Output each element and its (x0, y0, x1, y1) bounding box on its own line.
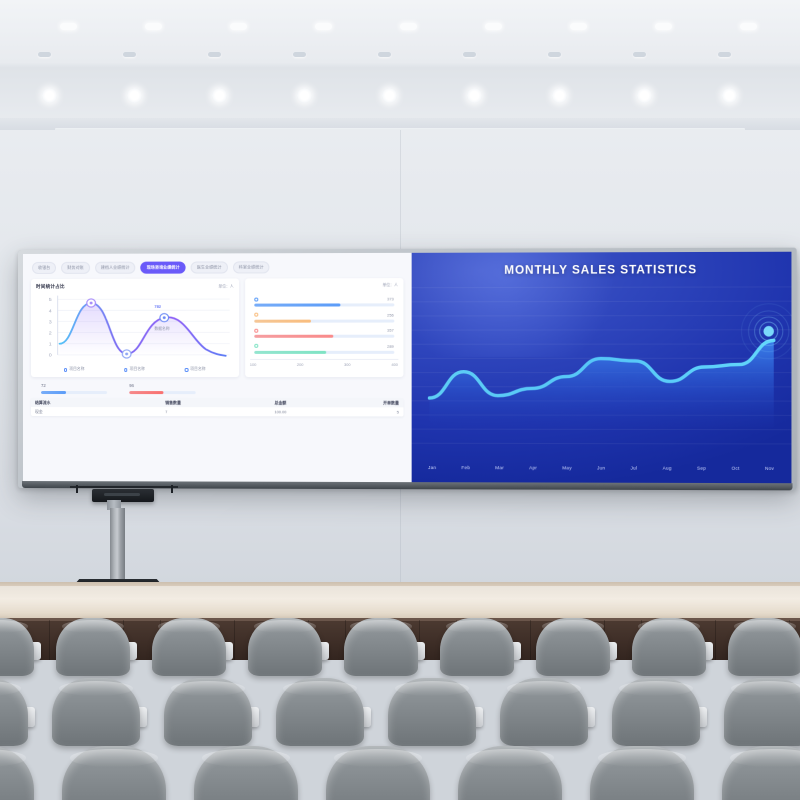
axis-tick-3: 400 (391, 363, 397, 367)
slot-light (570, 23, 587, 30)
seat-highlight (0, 620, 28, 633)
sales-chart-title: MONTHLY SALES STATISTICS (411, 264, 791, 277)
slot-light (633, 52, 646, 57)
sales-area-chart[interactable] (411, 282, 791, 455)
down-light (382, 88, 397, 103)
seat-highlight (598, 749, 685, 767)
mount-column (110, 508, 125, 584)
svg-text:1: 1 (49, 342, 52, 348)
slot-light (145, 23, 162, 30)
mini-fill (129, 391, 164, 395)
table-header-cell-0: 结算流水 (35, 400, 165, 406)
slot-light (38, 52, 51, 57)
bar-value: 256 (387, 312, 394, 317)
tab-1[interactable]: 财务对账 (61, 262, 89, 275)
bar-track (254, 350, 394, 353)
legend-label: 项目名称 (130, 367, 145, 372)
auditorium-seat (194, 746, 298, 800)
auditorium-seat (152, 618, 226, 676)
mini-track (41, 391, 107, 395)
svg-text:2: 2 (49, 331, 52, 337)
point-name-label: 数据名称 (154, 327, 169, 332)
auditorium-seat (326, 746, 430, 800)
bar-row-header: 357 (254, 328, 394, 333)
svg-text:3: 3 (49, 320, 52, 326)
slot-light (463, 52, 476, 57)
auditorium-seat (440, 618, 514, 676)
bar-row-header: 256 (254, 312, 394, 317)
summary-table[interactable]: 结算流水销售数量总金额开单数量 现金7100.005 (31, 398, 403, 416)
auditorium-seat (536, 618, 610, 676)
ceiling (0, 0, 800, 130)
dashboard-card-row: 时间统计占比 单位：人 (23, 274, 411, 378)
table-row[interactable]: 现金7100.005 (31, 407, 403, 416)
card-title: 时间统计占比 (36, 284, 65, 290)
seat-highlight (466, 749, 553, 767)
time-ratio-card[interactable]: 时间统计占比 单位：人 (31, 279, 239, 378)
bar-value: 289 (387, 344, 394, 349)
down-light (467, 88, 482, 103)
bar-row-0[interactable]: 373 (254, 297, 394, 307)
card-unit: 单位：人 (218, 285, 233, 290)
seat-highlight (507, 681, 581, 696)
table-header-cell-1: 销售数量 (165, 400, 274, 406)
auditorium-seat (728, 618, 800, 676)
down-light (297, 88, 312, 103)
seat-highlight (62, 620, 124, 633)
slot-light (485, 23, 502, 30)
mount-rail-right (171, 485, 173, 493)
mount-rail-left (76, 485, 78, 493)
seat-highlight (730, 749, 800, 767)
month-label-6: Jul (631, 465, 638, 470)
bar-axis: 100200300400 (250, 359, 398, 366)
mount-crossbar (92, 489, 154, 502)
axis-tick-1: 200 (297, 363, 303, 367)
line-chart-svg: 543210 (36, 292, 234, 366)
month-label-9: Oct (732, 466, 740, 471)
card-unit: 单位：人 (382, 284, 397, 289)
auditorium-seat (612, 678, 700, 746)
down-light (127, 88, 142, 103)
auditorium-seat (722, 746, 800, 800)
auditorium-seat (388, 678, 476, 746)
bar-fill (254, 350, 327, 353)
month-label-0: Jan (428, 465, 436, 470)
mini-fill (41, 391, 66, 395)
table-cell-3: 5 (362, 410, 399, 415)
bar-marker-icon (254, 313, 258, 317)
slot-light (293, 52, 306, 57)
bar-fill (254, 304, 341, 308)
card-header: 时间统计占比 单位：人 (36, 284, 234, 290)
display-bezel: 收银台财务对账建档人业绩统计现场咨询业绩统计医生业绩统计科室业绩统计 时间统计占… (18, 248, 797, 491)
bar-value: 357 (387, 328, 394, 333)
bar-marker-icon (254, 344, 258, 348)
auditorium-seat (500, 678, 588, 746)
table-header-row: 结算流水销售数量总金额开单数量 (31, 398, 403, 407)
bar-track (254, 303, 394, 307)
month-label-8: Sep (697, 466, 706, 471)
bar-marker-icon (254, 298, 258, 302)
down-light (212, 88, 227, 103)
legend-label: 项目名称 (190, 367, 205, 372)
down-light (42, 88, 57, 103)
video-wall[interactable]: 收银台财务对账建档人业绩统计现场咨询业绩统计医生业绩统计科室业绩统计 时间统计占… (18, 248, 797, 491)
seat-highlight (158, 620, 220, 633)
mini-progress-0[interactable]: 72 (41, 383, 107, 394)
auditorium-seat (0, 618, 34, 676)
auditorium-seat (632, 618, 706, 676)
seat-highlight (350, 620, 412, 633)
slot-light (230, 23, 247, 30)
seat-highlight (0, 749, 26, 767)
slot-light (740, 23, 757, 30)
down-light (637, 88, 652, 103)
seat-highlight (638, 620, 700, 633)
bar-track (254, 319, 394, 323)
seat-highlight (254, 620, 316, 633)
seat-highlight (734, 620, 796, 633)
seat-highlight (619, 681, 693, 696)
slot-light (655, 23, 672, 30)
auditorium-seat (458, 746, 562, 800)
month-label-10: Nov (765, 466, 774, 471)
auditorium-seat (344, 618, 418, 676)
bar-row-header: 289 (254, 344, 394, 349)
bar-row-2[interactable]: 357 (254, 328, 394, 338)
slot-light (378, 52, 391, 57)
auditorium-scene: 收银台财务对账建档人业绩统计现场咨询业绩统计医生业绩统计科室业绩统计 时间统计占… (0, 0, 800, 800)
bar-row-1[interactable]: 256 (254, 312, 394, 322)
bar-fill (254, 335, 334, 338)
tab-4[interactable]: 医生业绩统计 (191, 261, 228, 274)
svg-text:0: 0 (49, 353, 52, 359)
tab-2[interactable]: 建档人业绩统计 (95, 262, 136, 275)
bar-value: 373 (387, 297, 394, 302)
auditorium-seat (164, 678, 252, 746)
down-light (552, 88, 567, 103)
slot-light (315, 23, 332, 30)
table-cell-2: 100.00 (274, 410, 362, 415)
dashboard-tab-bar[interactable]: 收银台财务对账建档人业绩统计现场咨询业绩统计医生业绩统计科室业绩统计 (23, 253, 411, 275)
tab-3[interactable]: 现场咨询业绩统计 (141, 262, 186, 275)
auditorium-seat (56, 618, 130, 676)
slot-light (718, 52, 731, 57)
chart-legend[interactable]: 项目名称项目名称项目名称 (36, 366, 234, 374)
ranking-card[interactable]: 单位：人 373256357289 100200300400 (245, 279, 403, 378)
legend-item-1[interactable]: 项目名称 (124, 367, 145, 372)
legend-item-2[interactable]: 项目名称 (185, 367, 206, 372)
legend-dot-icon (124, 368, 127, 371)
seat-highlight (0, 681, 21, 696)
auditorium-seat (248, 618, 322, 676)
bar-row-header: 373 (254, 297, 394, 302)
seat-highlight (171, 681, 245, 696)
mini-value: 72 (41, 383, 107, 388)
sales-chart-svg (411, 282, 791, 455)
table-cell-1: 7 (165, 409, 274, 414)
auditorium-seat (52, 678, 140, 746)
tab-0[interactable]: 收银台 (32, 262, 56, 275)
month-label-4: May (562, 465, 572, 470)
month-label-2: Mar (495, 465, 504, 470)
legend-dot-icon (64, 368, 67, 371)
seat-highlight (334, 749, 421, 767)
svg-text:5: 5 (49, 298, 52, 304)
bar-fill (254, 319, 311, 322)
line-chart[interactable]: 543210 (36, 292, 234, 366)
month-label-5: Jun (597, 465, 605, 470)
seat-highlight (283, 681, 357, 696)
axis-tick-2: 300 (344, 363, 350, 367)
legend-label: 项目名称 (69, 367, 84, 372)
slot-light (208, 52, 221, 57)
slot-light (400, 23, 417, 30)
mini-value: 96 (129, 384, 195, 389)
down-light (722, 88, 737, 103)
slot-light (60, 23, 77, 30)
point-value-label: 782 (154, 304, 161, 309)
auditorium-seating (0, 600, 800, 800)
month-label-7: Aug (663, 466, 672, 471)
seat-highlight (731, 681, 800, 696)
table-header-cell-2: 总金额 (274, 400, 362, 406)
mount-slot (104, 493, 140, 496)
table-body[interactable]: 现金7100.005 (31, 407, 403, 416)
slot-light (123, 52, 136, 57)
auditorium-seat (0, 746, 34, 800)
table-cell-0: 现金 (35, 409, 165, 415)
svg-text:4: 4 (49, 309, 52, 315)
mount-hanger-bar (70, 486, 178, 488)
auditorium-seat (724, 678, 800, 746)
seat-highlight (395, 681, 469, 696)
seat-highlight (446, 620, 508, 633)
month-axis: JanFebMarAprMayJunJulAugSepOctNov (411, 465, 791, 471)
seat-highlight (542, 620, 604, 633)
horizontal-bar-list[interactable]: 373256357289 (250, 291, 398, 354)
bar-track (254, 335, 394, 339)
auditorium-seat (0, 678, 28, 746)
table-header-cell-3: 开单数量 (362, 400, 399, 406)
sales-chart-screen[interactable]: MONTHLY SALES STATISTICS (411, 252, 791, 485)
seat-highlight (202, 749, 289, 767)
auditorium-seat (276, 678, 364, 746)
seat-highlight (59, 681, 133, 696)
month-label-3: Apr (529, 465, 537, 470)
auditorium-seat (590, 746, 694, 800)
slot-light (548, 52, 561, 57)
card-header: 单位：人 (250, 284, 398, 289)
seat-highlight (70, 749, 157, 767)
auditorium-seat (62, 746, 166, 800)
tab-5[interactable]: 科室业绩统计 (233, 261, 270, 274)
display-panel: 收银台财务对账建档人业绩统计现场咨询业绩统计医生业绩统计科室业绩统计 时间统计占… (23, 252, 791, 485)
legend-item-0[interactable]: 项目名称 (64, 367, 85, 372)
bar-row-3[interactable]: 289 (254, 344, 394, 354)
month-label-1: Feb (461, 465, 470, 470)
dashboard-screen[interactable]: 收银台财务对账建档人业绩统计现场咨询业绩统计医生业绩统计科室业绩统计 时间统计占… (23, 253, 411, 483)
axis-tick-0: 100 (250, 363, 256, 367)
legend-dot-icon (185, 368, 188, 371)
bar-marker-icon (254, 329, 258, 333)
mini-progress-1[interactable]: 96 (129, 384, 195, 395)
mini-progress-row[interactable]: 7296 (23, 377, 411, 394)
mini-track (129, 391, 195, 395)
